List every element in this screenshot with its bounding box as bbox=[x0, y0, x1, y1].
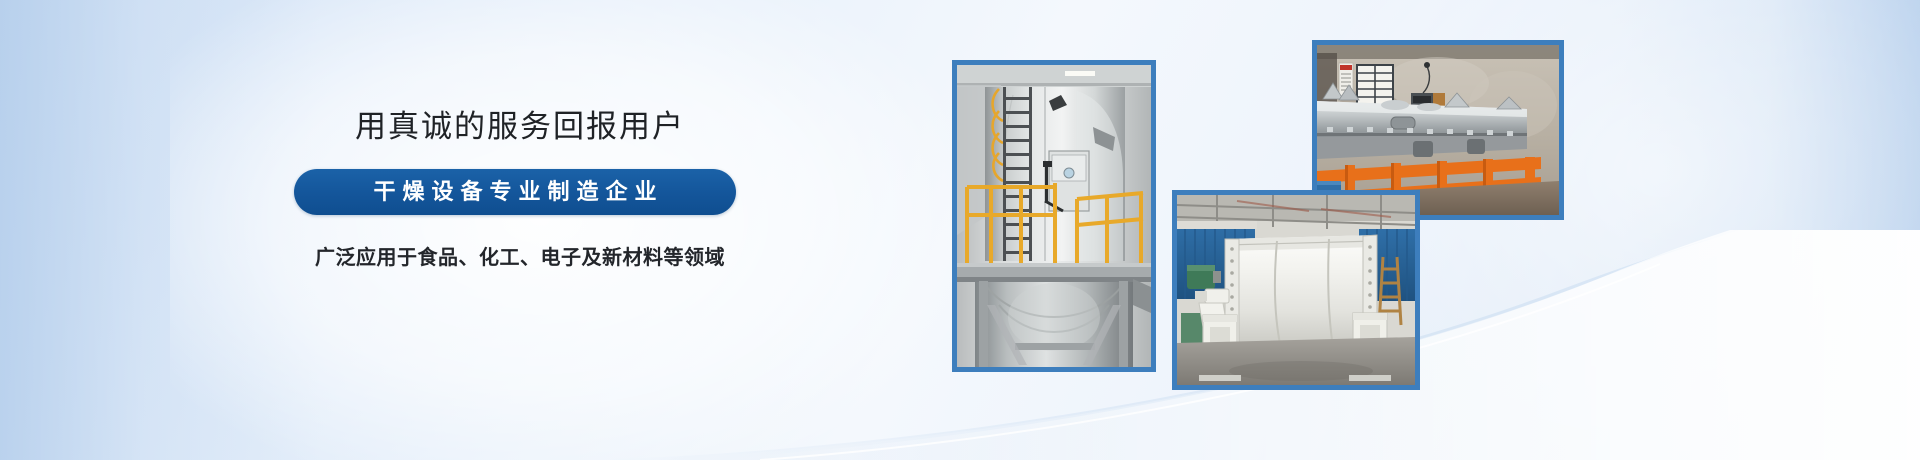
photo-ribbon-mixer[interactable] bbox=[1172, 190, 1420, 390]
photo-spray-dryer[interactable] bbox=[952, 60, 1156, 372]
banner-headline: 用真诚的服务回报用户 bbox=[294, 108, 746, 145]
banner-slogan-pill: 干燥设备专业制造企业 bbox=[294, 169, 736, 215]
left-edge-shading bbox=[0, 0, 320, 460]
photo-ribbon-mixer-image bbox=[1177, 195, 1415, 385]
hero-banner: 用真诚的服务回报用户 干燥设备专业制造企业 广泛应用于食品、化工、电子及新材料等… bbox=[0, 0, 1920, 460]
right-edge-shading bbox=[1620, 0, 1920, 460]
banner-subline: 广泛应用于食品、化工、电子及新材料等领域 bbox=[294, 241, 746, 270]
photo-spray-dryer-image bbox=[957, 65, 1151, 367]
banner-copy: 用真诚的服务回报用户 干燥设备专业制造企业 广泛应用于食品、化工、电子及新材料等… bbox=[294, 108, 746, 270]
